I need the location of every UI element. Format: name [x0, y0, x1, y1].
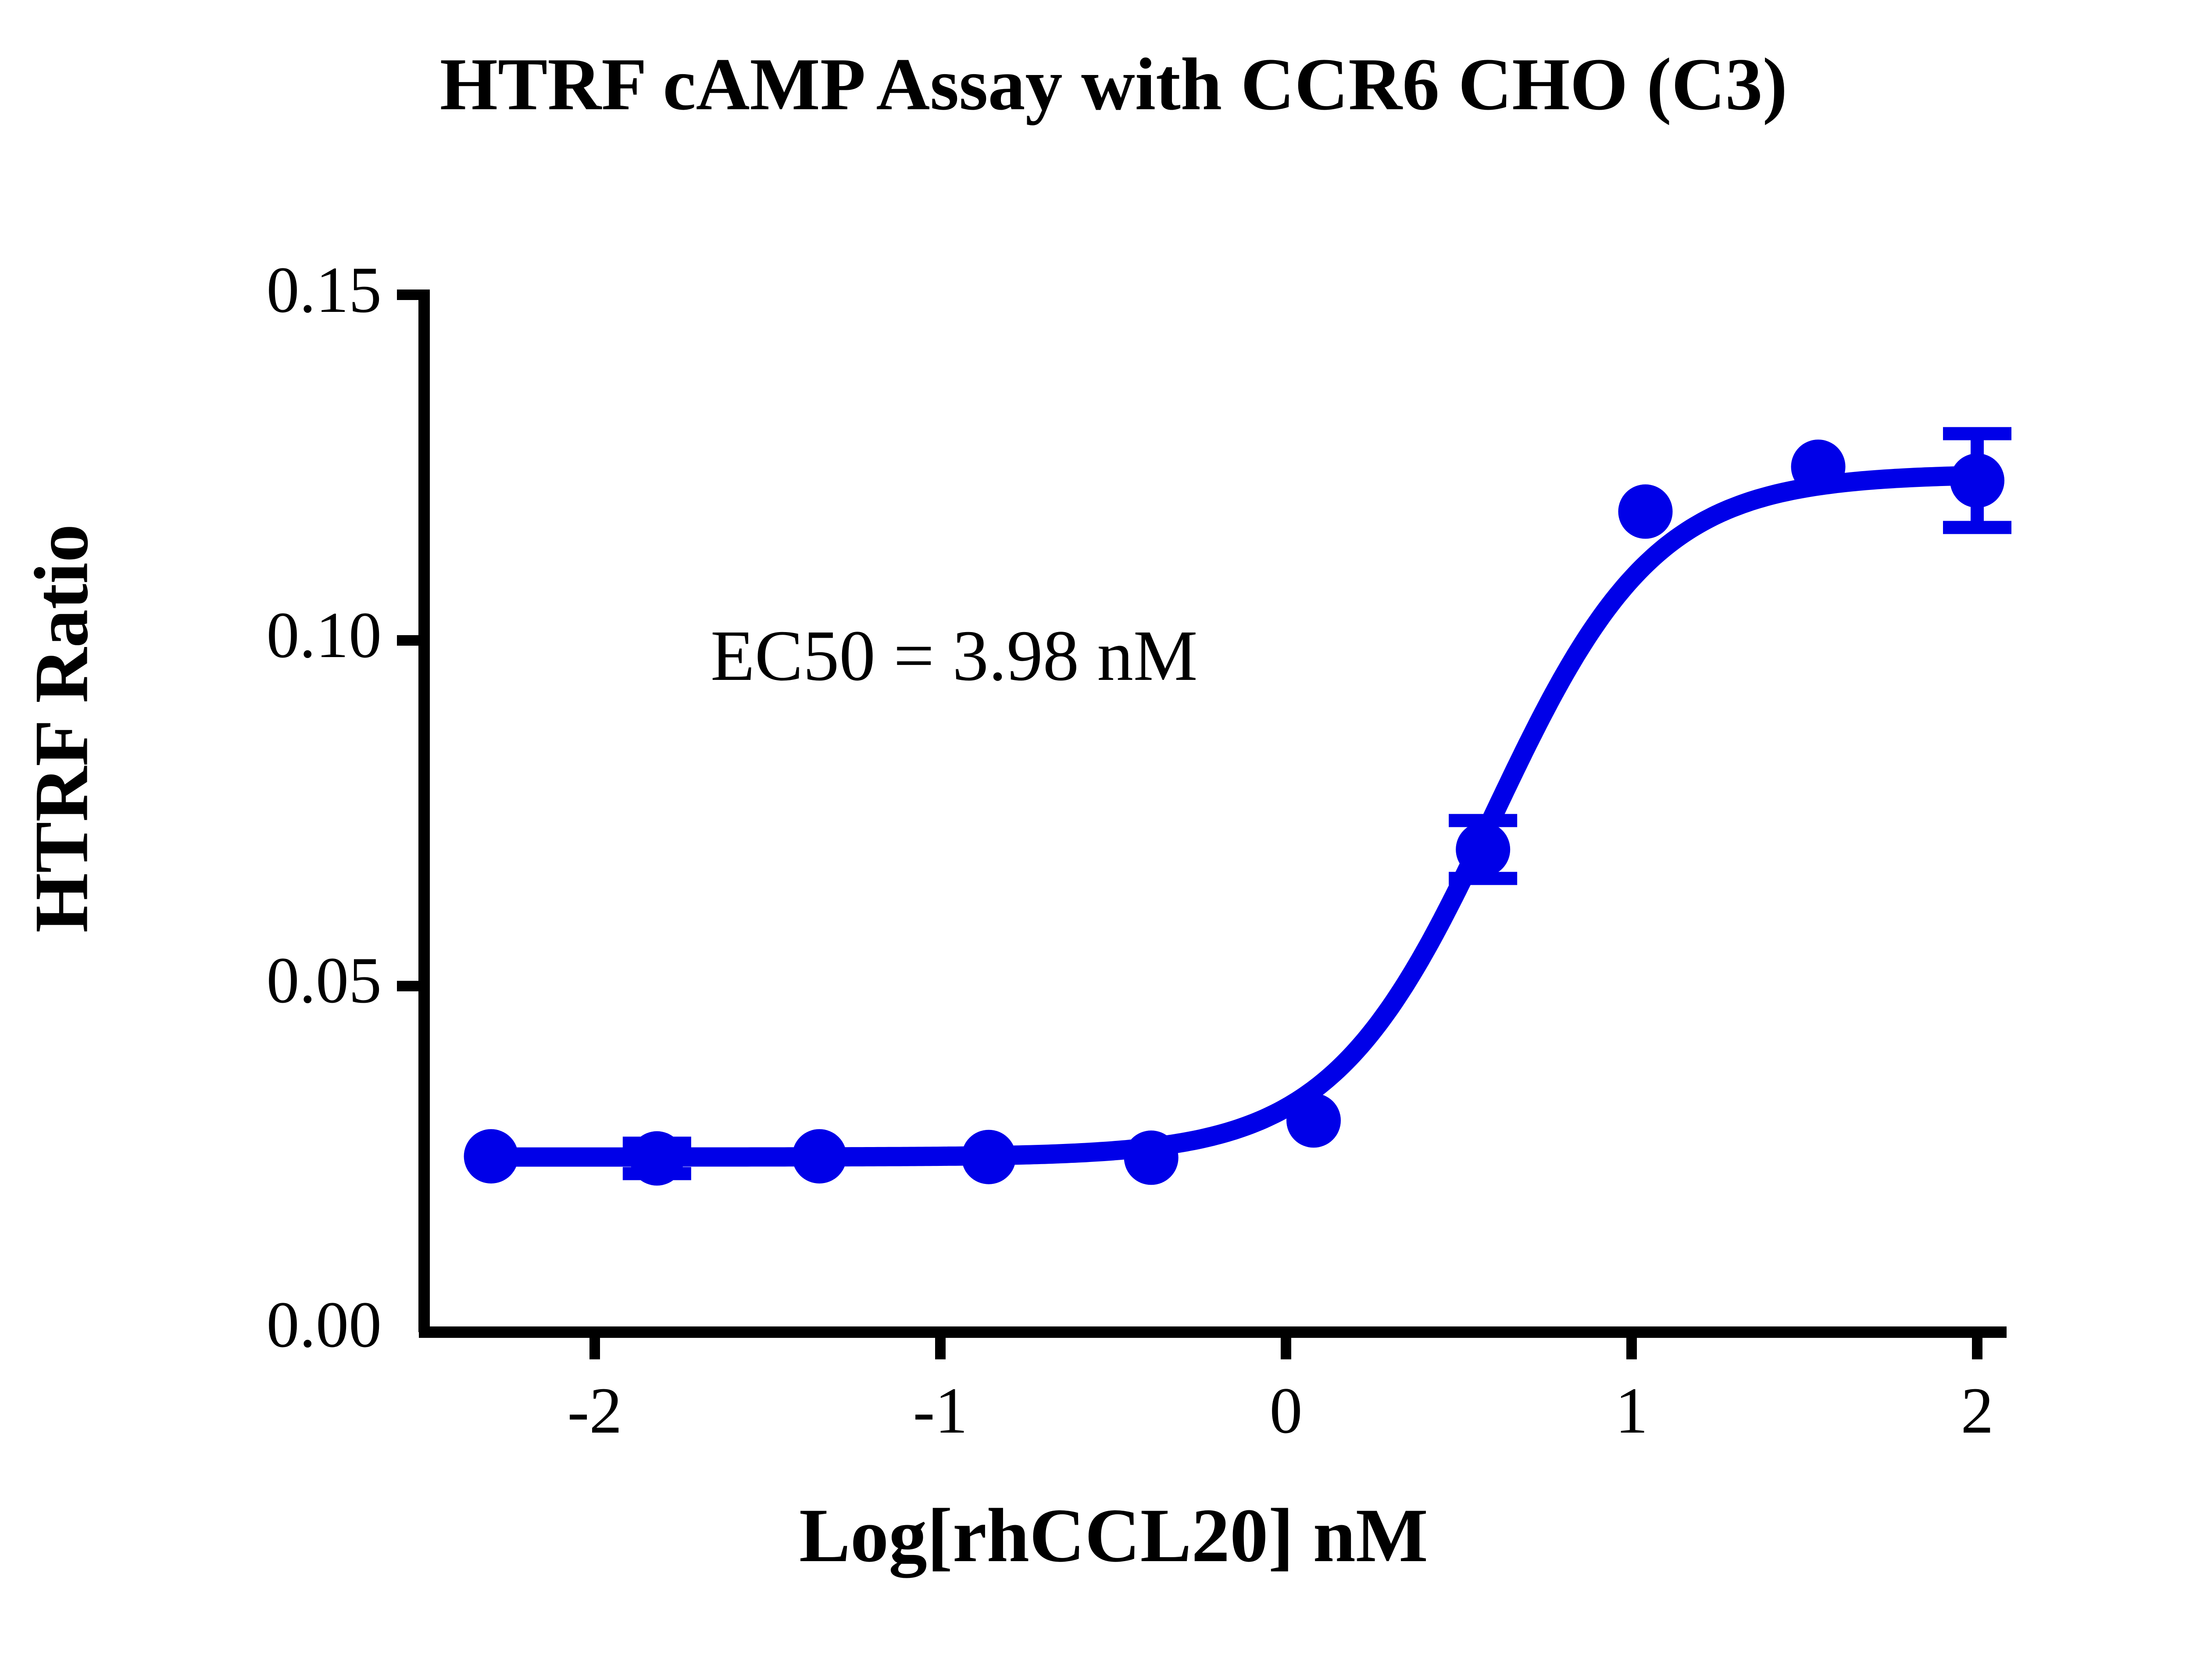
data-point — [1791, 440, 1846, 494]
data-point — [1286, 1093, 1341, 1147]
data-point — [1456, 822, 1510, 877]
data-point — [1618, 484, 1673, 539]
data-point-group — [464, 440, 2004, 1186]
data-point — [1124, 1130, 1179, 1185]
data-point — [961, 1130, 1016, 1184]
chart-canvas: HTRF cAMP Assay with CCR6 CHO (C3) HTRF … — [0, 0, 2193, 1680]
error-bar-group — [623, 434, 2011, 1174]
data-point — [792, 1129, 846, 1183]
fit-curve — [491, 475, 1977, 1157]
data-point — [464, 1129, 518, 1183]
data-point — [630, 1131, 684, 1186]
plot-area — [0, 0, 2193, 1680]
data-point — [1950, 454, 2004, 508]
